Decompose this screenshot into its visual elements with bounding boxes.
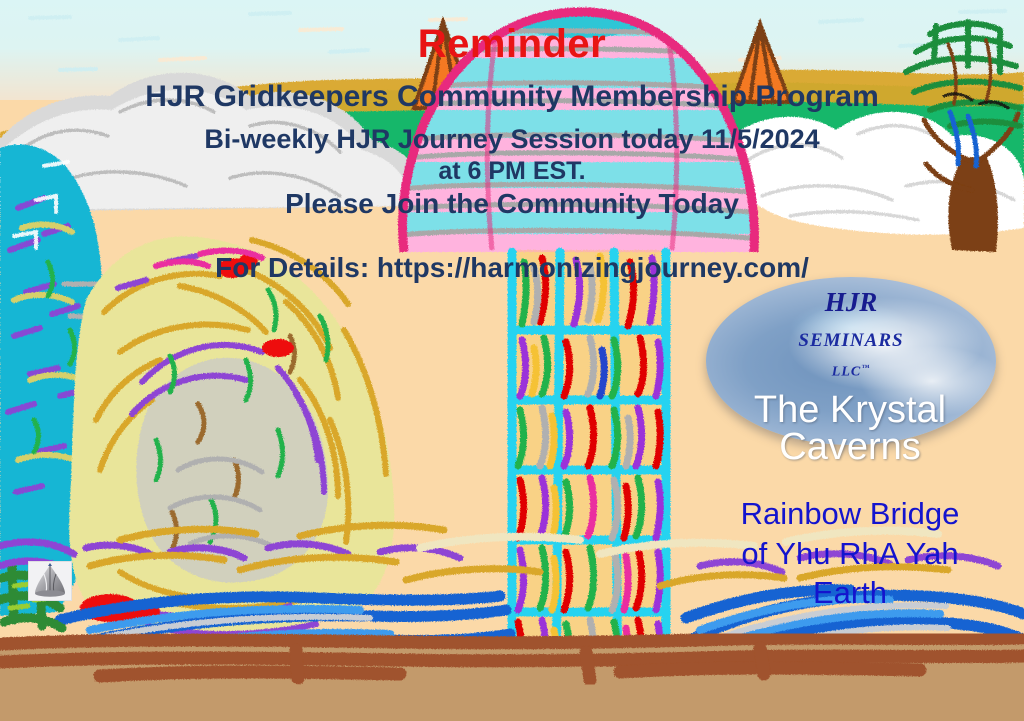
call-to-action: Please Join the Community Today — [0, 188, 1024, 220]
caption-line1: Rainbow Bridge — [690, 494, 1010, 534]
caption-line2: of Yhu RhA Yah — [690, 534, 1010, 574]
logo-entity-text: LLC — [832, 365, 861, 380]
poster-canvas: Reminder HJR Gridkeepers Community Membe… — [0, 0, 1024, 721]
session-time-line: at 6 PM EST. — [0, 157, 1024, 186]
caption-line3: Earth — [690, 573, 1010, 613]
krystal-cavern-thumbnail — [28, 561, 72, 601]
session-line: Bi-weekly HJR Journey Session today 11/5… — [0, 124, 1024, 155]
trademark-symbol: ™ — [861, 363, 870, 372]
program-headline: HJR Gridkeepers Community Membership Pro… — [0, 80, 1024, 114]
krystal-caverns-title: The Krystal Caverns — [690, 392, 1010, 466]
logo-brand: HJR — [706, 287, 996, 318]
reminder-label: Reminder — [0, 22, 1024, 67]
logo-brand-entity: LLC™ — [706, 363, 996, 381]
krystal-caverns-line2: Caverns — [690, 429, 1010, 466]
crystal-bell-icon — [29, 562, 71, 600]
krystal-caverns-line1: The Krystal — [690, 392, 1010, 429]
rainbow-bridge-caption: Rainbow Bridge of Yhu RhA Yah Earth — [690, 494, 1010, 613]
logo-brand-sub: SEMINARS — [706, 330, 996, 352]
